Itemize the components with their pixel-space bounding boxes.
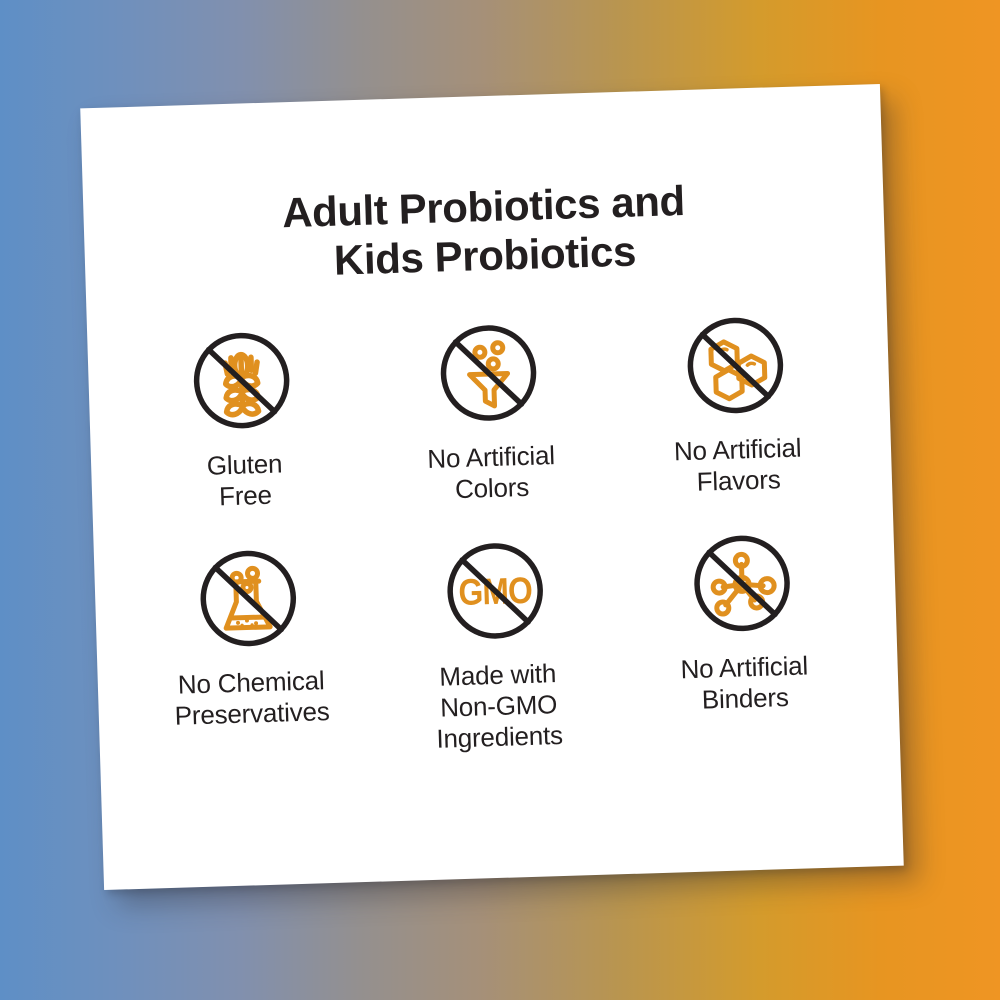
no-gluten-wheat-icon bbox=[181, 320, 303, 442]
badge-no-artificial-colors: No Artificial Colors bbox=[363, 310, 615, 507]
badge-label-line-2: Preservatives bbox=[174, 696, 330, 732]
badge-label: No Artificial Flavors bbox=[673, 433, 802, 499]
badge-label: Made with Non-GMO Ingredients bbox=[434, 658, 563, 755]
badge-non-gmo: GMO Made with Non-GMO Ingredients bbox=[370, 528, 623, 756]
badge-label-line-2: Binders bbox=[681, 681, 809, 716]
badge-label-line-3: Ingredients bbox=[436, 720, 563, 755]
badge-label-line-1: Made with bbox=[434, 658, 561, 693]
badge-label-line-1: Gluten bbox=[206, 448, 282, 481]
no-chemical-preservatives-flask-icon bbox=[188, 538, 310, 660]
badge-label-line-1: No Artificial bbox=[680, 650, 808, 685]
no-artificial-colors-funnel-icon bbox=[428, 312, 550, 434]
badge-label-line-2: Flavors bbox=[674, 464, 802, 499]
badge-label: No Artificial Binders bbox=[680, 650, 809, 716]
page-title: Adult Probiotics and Kids Probiotics bbox=[83, 170, 886, 292]
badge-label-line-2: Non-GMO bbox=[435, 689, 562, 724]
badge-no-artificial-flavors: No Artificial Flavors bbox=[610, 303, 862, 500]
badge-label-line-1: No Chemical bbox=[173, 665, 329, 701]
badge-no-artificial-binders: No Artificial Binders bbox=[617, 521, 870, 749]
white-card: Adult Probiotics and Kids Probiotics bbox=[80, 84, 904, 890]
badge-label-line-2: Free bbox=[207, 479, 283, 512]
badge-no-chemical-preservatives: No Chemical Preservatives bbox=[124, 536, 377, 764]
badge-label: No Chemical Preservatives bbox=[173, 665, 330, 732]
badge-label-line-1: No Artificial bbox=[427, 440, 555, 475]
no-artificial-binders-molecule-icon bbox=[681, 523, 803, 645]
no-artificial-flavors-hexagons-icon bbox=[674, 305, 796, 427]
product-claims-graphic: Adult Probiotics and Kids Probiotics bbox=[0, 0, 1000, 1000]
badge-label-line-2: Colors bbox=[428, 471, 556, 506]
badge-label-line-1: No Artificial bbox=[673, 433, 801, 468]
badge-label: Gluten Free bbox=[206, 448, 283, 512]
no-gmo-icon: GMO bbox=[434, 530, 556, 652]
badge-grid: Gluten Free bbox=[117, 303, 870, 764]
badge-gluten-free: Gluten Free bbox=[117, 318, 369, 515]
badge-label: No Artificial Colors bbox=[427, 440, 556, 506]
